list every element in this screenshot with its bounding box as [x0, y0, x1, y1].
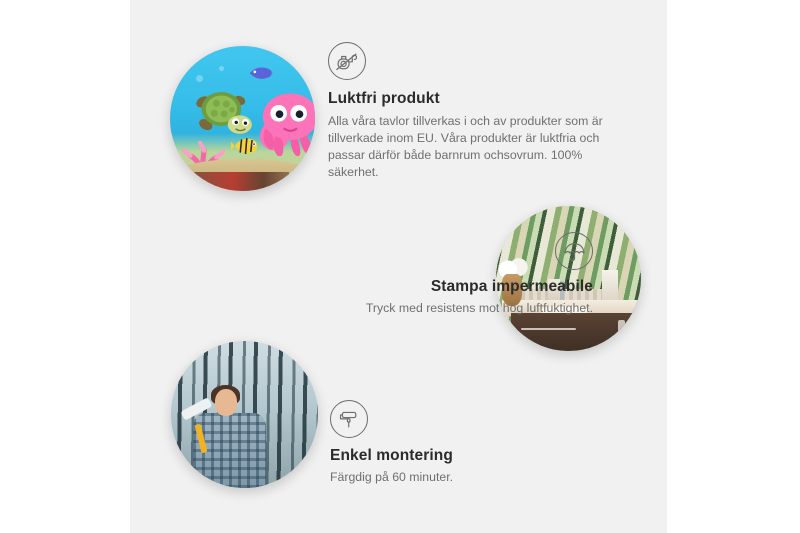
icon-wrap [330, 400, 630, 438]
forest-scene-artwork [171, 341, 318, 488]
feature-block-odour-free: Luktfri produkt Alla våra tavlor tillver… [328, 42, 628, 181]
product-photo-woman-paint-roller-forest[interactable] [171, 341, 318, 488]
bubble-icon [196, 75, 203, 82]
seabed-foreground [187, 172, 289, 191]
feature-body: Alla våra tavlor tillverkas i och av pro… [328, 113, 628, 181]
icon-wrap [328, 42, 628, 80]
feature-block-easy-mounting: Enkel montering Färgdig på 60 minuter. [330, 400, 630, 486]
striped-fish-icon [231, 133, 260, 159]
octopus-icon [257, 90, 315, 157]
decorator-person [192, 385, 268, 488]
icon-wrap [190, 232, 593, 278]
no-fragrance-icon [328, 42, 366, 80]
underwater-scene-artwork [170, 46, 315, 191]
face [215, 389, 238, 416]
blue-fish-icon [247, 63, 273, 83]
umbrella-icon [555, 232, 593, 270]
feature-body: Tryck med resistens mot hög luftfuktighe… [190, 300, 593, 317]
paint-roller-icon [330, 400, 368, 438]
wooden-vanity-cabinet [511, 313, 642, 351]
content-panel: Luktfri produkt Alla våra tavlor tillver… [130, 0, 667, 533]
feature-title: Luktfri produkt [328, 90, 628, 108]
product-feature-banner: Luktfri produkt Alla våra tavlor tillver… [0, 0, 800, 533]
bubble-icon [219, 66, 224, 71]
product-photo-underwater-kids-scene[interactable] [170, 46, 315, 191]
feature-block-waterproof-print: Stampa impermeabile Tryck med resistens … [190, 232, 593, 317]
feature-body: Färgdig på 60 minuter. [330, 469, 630, 486]
toiletry-bottle [602, 270, 618, 302]
feature-title: Enkel montering [330, 447, 630, 465]
feature-title: Stampa impermeabile [190, 278, 593, 296]
